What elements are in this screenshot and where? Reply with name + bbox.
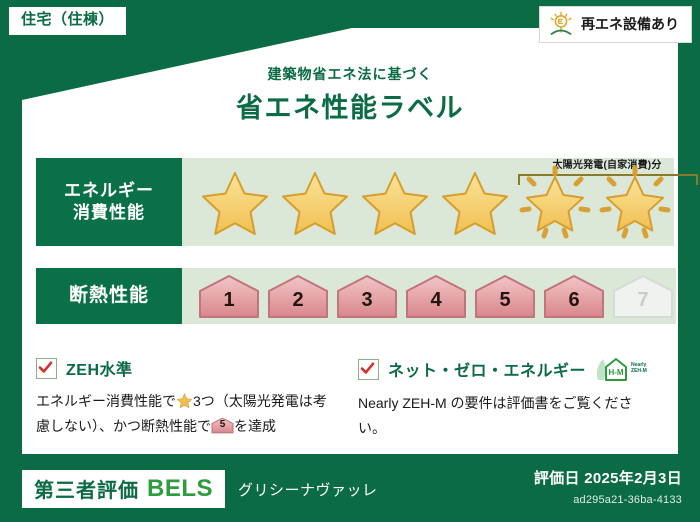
insulation-level-1: 1 [196,273,262,319]
criteria-zeh: ZEH水準 エネルギー消費性能で3つ（太陽光発電は考慮しない）、かつ断熱性能で5… [36,356,336,438]
evaluation-id: ad295a21-36ba-4133 [573,494,682,506]
star-6-solar [596,163,674,241]
bels-jp-label: 第三者評価 [34,474,139,503]
renewable-equipment-badge: 再エネ設備あり [539,6,692,43]
energy-label-line2: 消費性能 [64,202,154,224]
check-icon [360,361,375,376]
zeh-m-caption-line2: ZEH-M [631,368,647,374]
energy-row-label: エネルギー 消費性能 [36,158,182,246]
insulation-level-3: 3 [334,273,400,319]
star-rating [182,163,674,241]
net-zero-title: ネット・ゼロ・エネルギー [388,357,586,381]
zeh-m-logo-caption: Nearly ZEH-M [631,363,647,375]
inline-star-icon [176,392,193,409]
zeh-checkbox[interactable] [36,358,57,379]
renewable-badge-label: 再エネ設備あり [581,14,679,34]
insulation-row-value: 1 2 3 4 5 [182,268,676,324]
zeh-description: エネルギー消費性能で3つ（太陽光発電は考慮しない）、かつ断熱性能で5を達成 [36,389,336,438]
insulation-level-2-value: 2 [292,289,303,319]
svg-text:H-M: H-M [608,368,623,377]
star-2 [276,163,354,241]
dwelling-type-tag: 住宅（住棟） [8,6,127,36]
zeh-text-a: エネルギー消費性能で [36,393,176,409]
zeh-m-logo: H-M Nearly ZEH-M [595,356,647,382]
bels-certification-box: 第三者評価 BELS [22,470,225,508]
insulation-level-5-value: 5 [499,289,510,319]
insulation-level-1-value: 1 [223,289,234,319]
zeh-m-house-icon: H-M [595,356,629,382]
energy-performance-label: 住宅（住棟） 再エネ設備あり 建築物省エネ法に基づく 省エネ性能ラベル エネルギ… [0,0,700,522]
insulation-level-7-value: 7 [637,289,648,319]
check-icon [38,360,53,375]
net-zero-description: Nearly ZEH-M の要件は評価書をご覧ください。 [358,391,658,440]
insulation-level-4: 4 [403,273,469,319]
star-3 [356,163,434,241]
insulation-level-7: 7 [610,273,676,319]
insulation-level-scale: 1 2 3 4 5 [182,273,676,319]
energy-row-value: 太陽光発電(自家消費)分 [182,158,674,246]
star-4 [436,163,514,241]
criteria-net-zero: ネット・ゼロ・エネルギー H-M Nearly ZEH-M Nearly ZEH… [358,356,658,440]
label-title: 省エネ性能ラベル [0,86,700,125]
criteria-net-zero-header: ネット・ゼロ・エネルギー H-M Nearly ZEH-M [358,356,658,382]
zeh-star-count: 3つ [193,393,215,409]
sun-solar-icon [548,11,574,37]
energy-performance-row: エネルギー 消費性能 太陽光発電(自家消費)分 [36,158,664,246]
star-1 [196,163,274,241]
criteria-zeh-header: ZEH水準 [36,356,336,380]
evaluation-date: 評価日 2025年2月3日 [534,467,682,488]
net-zero-checkbox[interactable] [358,359,379,380]
property-name: グリシーナヴァッレ [238,479,378,500]
zeh-title: ZEH水準 [66,356,133,380]
insulation-row-label: 断熱性能 [36,268,182,324]
insulation-level-3-value: 3 [361,289,372,319]
bels-en-label: BELS [147,475,213,503]
zeh-text-c: を達成 [234,418,276,434]
inline-insulation-house-icon: 5 [211,417,234,434]
inline-house-level: 5 [211,416,234,434]
star-5-solar [516,163,594,241]
energy-label-line1: エネルギー [64,180,154,202]
insulation-level-6-value: 6 [568,289,579,319]
label-subtitle: 建築物省エネ法に基づく [0,64,700,84]
insulation-level-6: 6 [541,273,607,319]
insulation-level-5: 5 [472,273,538,319]
insulation-performance-row: 断熱性能 1 2 3 4 [36,268,664,324]
insulation-level-2: 2 [265,273,331,319]
insulation-level-4-value: 4 [430,289,441,319]
